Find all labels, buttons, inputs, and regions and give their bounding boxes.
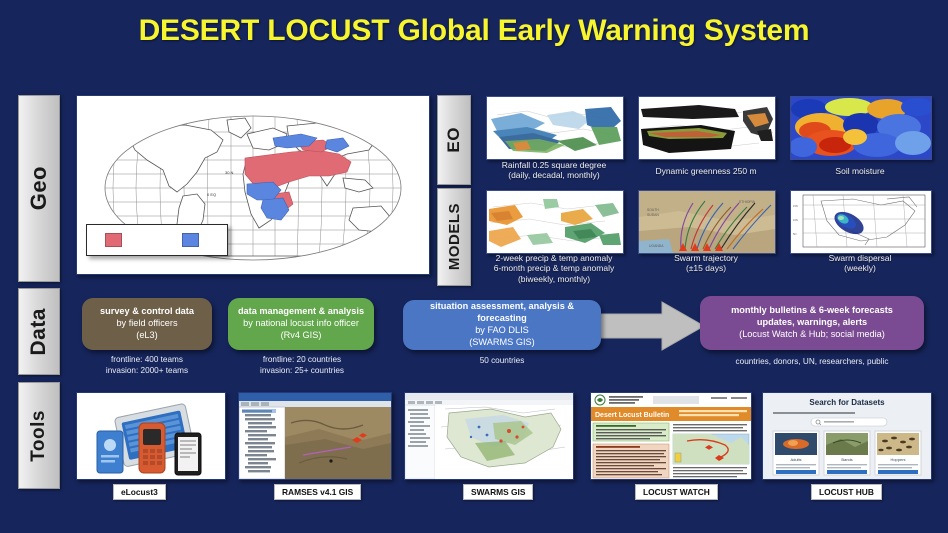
- svg-text:10N: 10N: [793, 218, 798, 222]
- section-tab-data[interactable]: Data: [18, 288, 60, 375]
- caption-rainfall-line1: Rainfall 0.25 square degree: [478, 160, 630, 170]
- svg-text:UGANDA: UGANDA: [649, 244, 664, 248]
- flow-arrow-icon: [600, 300, 705, 352]
- caption-greenness: Dynamic greenness 250 m: [630, 166, 782, 176]
- tool-screenshot-swarms[interactable]: [404, 392, 574, 480]
- caption-swarm-trajectory: Swarm trajectory (±15 days): [630, 253, 782, 274]
- data-note-bulletins: countries, donors, UN, researchers, publ…: [700, 357, 924, 368]
- svg-text:ETHIOPIA: ETHIOPIA: [739, 200, 756, 204]
- legend-swatch-red: [105, 233, 122, 247]
- svg-text:Search for Datasets: Search for Datasets: [809, 398, 885, 407]
- thumbnail-swarm-dispersal[interactable]: 15N10N5N: [790, 190, 932, 254]
- svg-text:Desert Locust Bulletin: Desert Locust Bulletin: [595, 412, 669, 419]
- caption-rainfall-line2: (daily, decadal, monthly): [478, 170, 630, 180]
- data-box-bulletins-line2: updates, warnings, alerts: [757, 317, 867, 329]
- data-box-situation-line1: situation assessment, analysis & forecas…: [409, 301, 595, 325]
- data-box-bulletins-line3: (Locust Watch & Hub; social media): [739, 329, 885, 341]
- tool-label-elocust3: eLocust3: [113, 484, 166, 500]
- caption-precip-anomaly: 2-week precip & temp anomaly 6-month pre…: [476, 253, 632, 284]
- svg-text:5N: 5N: [793, 232, 796, 236]
- data-box-situation[interactable]: situation assessment, analysis & forecas…: [403, 300, 601, 350]
- data-note-survey-line2: invasion: 2000+ teams: [72, 366, 222, 377]
- caption-swarm-trajectory-line1: Swarm trajectory: [630, 253, 782, 263]
- data-note-bulletins-line1: countries, donors, UN, researchers, publ…: [700, 357, 924, 368]
- data-note-situation-line1: 50 countries: [403, 356, 601, 367]
- svg-text:SUDAN: SUDAN: [647, 213, 659, 217]
- section-tab-tools-label: Tools: [28, 410, 50, 462]
- greenness-graphic: [639, 97, 775, 159]
- data-box-bulletins[interactable]: monthly bulletins & 6-week forecasts upd…: [700, 296, 924, 350]
- tool-screenshot-locust-watch[interactable]: Desert Locust Bulletin: [590, 392, 752, 480]
- data-box-survey-line1: survey & control data: [100, 306, 194, 318]
- slide-root: DESERT LOCUST Global Early Warning Syste…: [0, 0, 948, 533]
- section-tab-data-label: Data: [27, 308, 51, 356]
- caption-rainfall: Rainfall 0.25 square degree (daily, deca…: [478, 160, 630, 181]
- column-tab-models-label: MODELS: [446, 203, 463, 270]
- elocust3-devices-graphic: [77, 393, 225, 479]
- map-legend: [86, 224, 228, 256]
- data-note-survey-line1: frontline: 400 teams: [72, 355, 222, 366]
- data-box-management-line2: by national locust info officer: [243, 318, 359, 330]
- caption-greenness-line1: Dynamic greenness 250 m: [630, 166, 782, 176]
- tool-screenshot-locust-hub[interactable]: Search for Datasets Adults Bands: [762, 392, 932, 480]
- swarms-gis-graphic: [405, 393, 573, 479]
- swarm-dispersal-graphic: 15N10N5N: [791, 191, 931, 253]
- caption-precip-anomaly-line2: 6-month precip & temp anomaly: [476, 263, 632, 273]
- column-tab-eo-label: EO: [444, 127, 464, 153]
- data-note-management-line2: invasion: 25+ countries: [222, 366, 382, 377]
- data-box-survey-line2: by field officers: [116, 318, 177, 330]
- tool-label-locust-watch: LOCUST WATCH: [635, 484, 718, 500]
- caption-swarm-dispersal: Swarm dispersal (weekly): [782, 253, 938, 274]
- thumbnail-greenness[interactable]: [638, 96, 776, 160]
- precip-anomaly-graphic: [487, 191, 623, 253]
- svg-text:Adults: Adults: [790, 457, 801, 462]
- data-note-management: frontline: 20 countries invasion: 25+ co…: [222, 355, 382, 377]
- section-tab-geo[interactable]: Geo: [18, 95, 60, 282]
- svg-text:Hoppers: Hoppers: [890, 457, 905, 462]
- thumbnail-precip-anomaly[interactable]: [486, 190, 624, 254]
- rainfall-graphic: [487, 97, 623, 159]
- caption-soil-moisture-line1: Soil moisture: [782, 166, 938, 176]
- svg-text:0 EQ: 0 EQ: [207, 192, 216, 197]
- data-note-management-line1: frontline: 20 countries: [222, 355, 382, 366]
- data-box-situation-line3: (SWARMS GIS): [469, 337, 535, 349]
- data-box-survey[interactable]: survey & control data by field officers …: [82, 298, 212, 350]
- thumbnail-soil-moisture[interactable]: [790, 96, 932, 160]
- caption-swarm-dispersal-line2: (weekly): [782, 263, 938, 273]
- data-box-bulletins-line1: monthly bulletins & 6-week forecasts: [731, 305, 893, 317]
- caption-precip-anomaly-line3: (biweekly, monthly): [476, 274, 632, 284]
- data-box-management-line3: (Rv4 GIS): [281, 330, 322, 342]
- caption-swarm-trajectory-line2: (±15 days): [630, 263, 782, 273]
- data-note-survey: frontline: 400 teams invasion: 2000+ tea…: [72, 355, 222, 377]
- tool-label-swarms: SWARMS GIS: [463, 484, 533, 500]
- tool-screenshot-elocust3[interactable]: [76, 392, 226, 480]
- svg-text:Bands: Bands: [841, 457, 852, 462]
- swarm-trajectory-graphic: SOUTH SUDAN ETHIOPIA UGANDA: [639, 191, 775, 253]
- tool-label-locust-hub: LOCUST HUB: [811, 484, 882, 500]
- caption-soil-moisture: Soil moisture: [782, 166, 938, 176]
- thumbnail-rainfall[interactable]: [486, 96, 624, 160]
- column-tab-models[interactable]: MODELS: [437, 188, 471, 286]
- section-tab-geo-label: Geo: [26, 166, 52, 210]
- caption-precip-anomaly-line1: 2-week precip & temp anomaly: [476, 253, 632, 263]
- tool-screenshot-ramses[interactable]: [238, 392, 392, 480]
- locust-hub-graphic: Search for Datasets Adults Bands: [763, 393, 931, 479]
- soil-moisture-graphic: [791, 97, 931, 159]
- svg-text:30 N: 30 N: [225, 170, 234, 175]
- caption-swarm-dispersal-line1: Swarm dispersal: [782, 253, 938, 263]
- page-title: DESERT LOCUST Global Early Warning Syste…: [0, 14, 948, 48]
- svg-text:15N: 15N: [793, 204, 798, 208]
- data-box-management-line1: data management & analysis: [238, 306, 364, 318]
- tool-label-ramses: RAMSES v4.1 GIS: [274, 484, 361, 500]
- legend-swatch-blue: [182, 233, 199, 247]
- ramses-gis-graphic: [239, 393, 391, 479]
- svg-text:SOUTH: SOUTH: [647, 208, 659, 212]
- thumbnail-swarm-trajectory[interactable]: SOUTH SUDAN ETHIOPIA UGANDA: [638, 190, 776, 254]
- column-tab-eo[interactable]: EO: [437, 95, 471, 185]
- data-box-management[interactable]: data management & analysis by national l…: [228, 298, 374, 350]
- data-box-situation-line2: by FAO DLIS: [475, 325, 529, 337]
- locust-watch-bulletin-graphic: Desert Locust Bulletin: [591, 393, 751, 479]
- data-note-situation: 50 countries: [403, 356, 601, 367]
- section-tab-tools[interactable]: Tools: [18, 382, 60, 489]
- data-box-survey-line3: (eL3): [136, 330, 157, 342]
